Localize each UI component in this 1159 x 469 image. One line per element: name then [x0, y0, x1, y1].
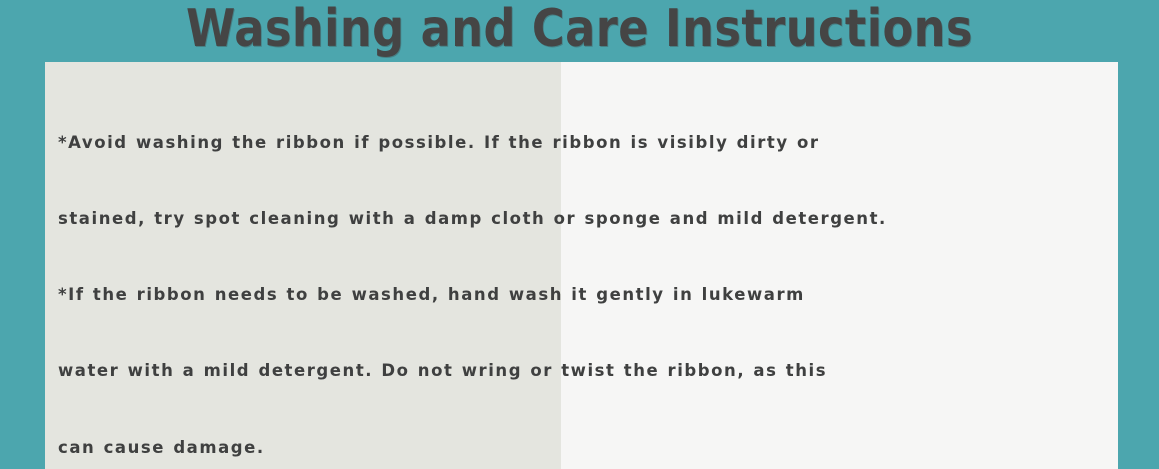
instruction-line: *Avoid washing the ribbon if possible. I…: [58, 130, 1113, 155]
instruction-line: water with a mild detergent. Do not wrin…: [58, 358, 1113, 383]
instructions-panel: *Avoid washing the ribbon if possible. I…: [45, 62, 1118, 469]
instructions-text: *Avoid washing the ribbon if possible. I…: [58, 79, 1113, 469]
page-title: Washing and Care Instructions: [81, 0, 1078, 60]
instruction-line: *If the ribbon needs to be washed, hand …: [58, 282, 1113, 307]
instruction-line: can cause damage.: [58, 435, 1113, 460]
instruction-line: stained, try spot cleaning with a damp c…: [58, 206, 1113, 231]
poster-root: Washing and Care Instructions *Avoid was…: [0, 0, 1159, 469]
